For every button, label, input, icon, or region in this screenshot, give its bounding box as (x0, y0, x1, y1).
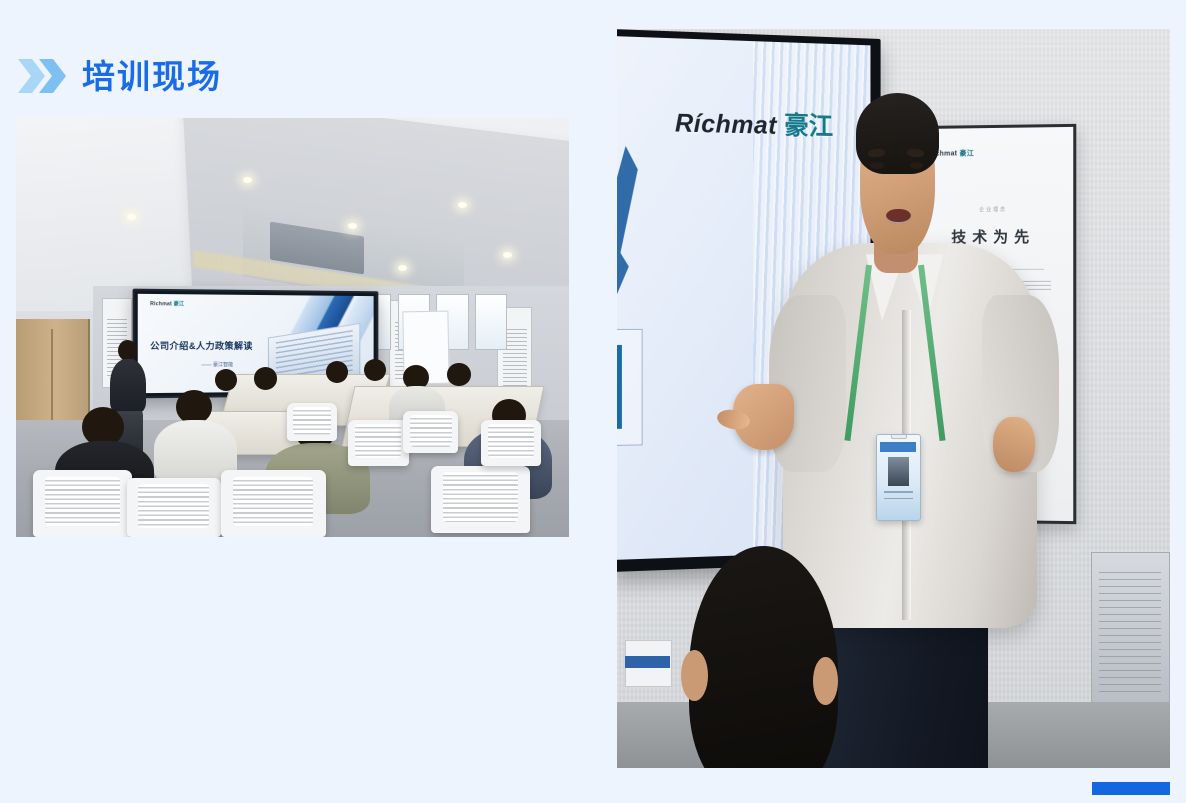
office-chair (287, 403, 337, 441)
double-chevron-right-icon (16, 56, 68, 96)
presenter-head (118, 340, 137, 361)
trainer-trousers (816, 605, 987, 768)
office-chair (221, 470, 326, 537)
training-room-photo: Richmat 豪江 公司介绍&人力政策解读 —— 豪江智能 (16, 118, 569, 537)
attendee-head (447, 363, 470, 386)
office-chair (33, 470, 133, 537)
employee-id-badge (876, 434, 921, 521)
badge-text-line (884, 498, 913, 500)
slide-title: 公司介绍&人力政策解读 (150, 339, 253, 352)
trainer-hair (856, 93, 939, 174)
attendee-ear-right (813, 657, 837, 705)
eye-left (870, 162, 883, 169)
bottom-accent-bar (1092, 782, 1170, 795)
slide-logo: Richmat 豪江 (150, 300, 184, 307)
badge-clip (891, 434, 907, 439)
mouth (886, 209, 911, 225)
office-chair (127, 478, 221, 537)
presenter-body (110, 359, 146, 413)
downlight (398, 265, 407, 271)
office-chair (403, 411, 458, 453)
gesturing-hand (993, 417, 1034, 472)
attendee-head (254, 367, 277, 390)
trainer-left-sleeve (769, 295, 846, 472)
badge-header (880, 442, 916, 452)
page-heading: 培训现场 (16, 52, 222, 100)
office-chair (481, 420, 542, 466)
badge-text-line (884, 491, 913, 493)
page-title: 培训现场 (82, 60, 222, 93)
office-chair (348, 420, 409, 466)
attendee-head (176, 390, 211, 424)
downlight (243, 177, 252, 183)
eye-right (910, 162, 923, 169)
trainer-speaking-photo: Ríchmat 豪江 Richmat 豪江 企业理念 技术为先 品质为上 (617, 29, 1170, 768)
eyebrow-right (906, 148, 924, 158)
attendee-head (326, 361, 348, 383)
window (475, 294, 507, 350)
badge-portrait (888, 457, 909, 486)
attendee-head (364, 359, 386, 381)
office-chair (431, 466, 531, 533)
slide-subtitle: —— 豪江智能 (201, 361, 233, 368)
downlight (348, 223, 357, 229)
downlight (503, 252, 512, 258)
